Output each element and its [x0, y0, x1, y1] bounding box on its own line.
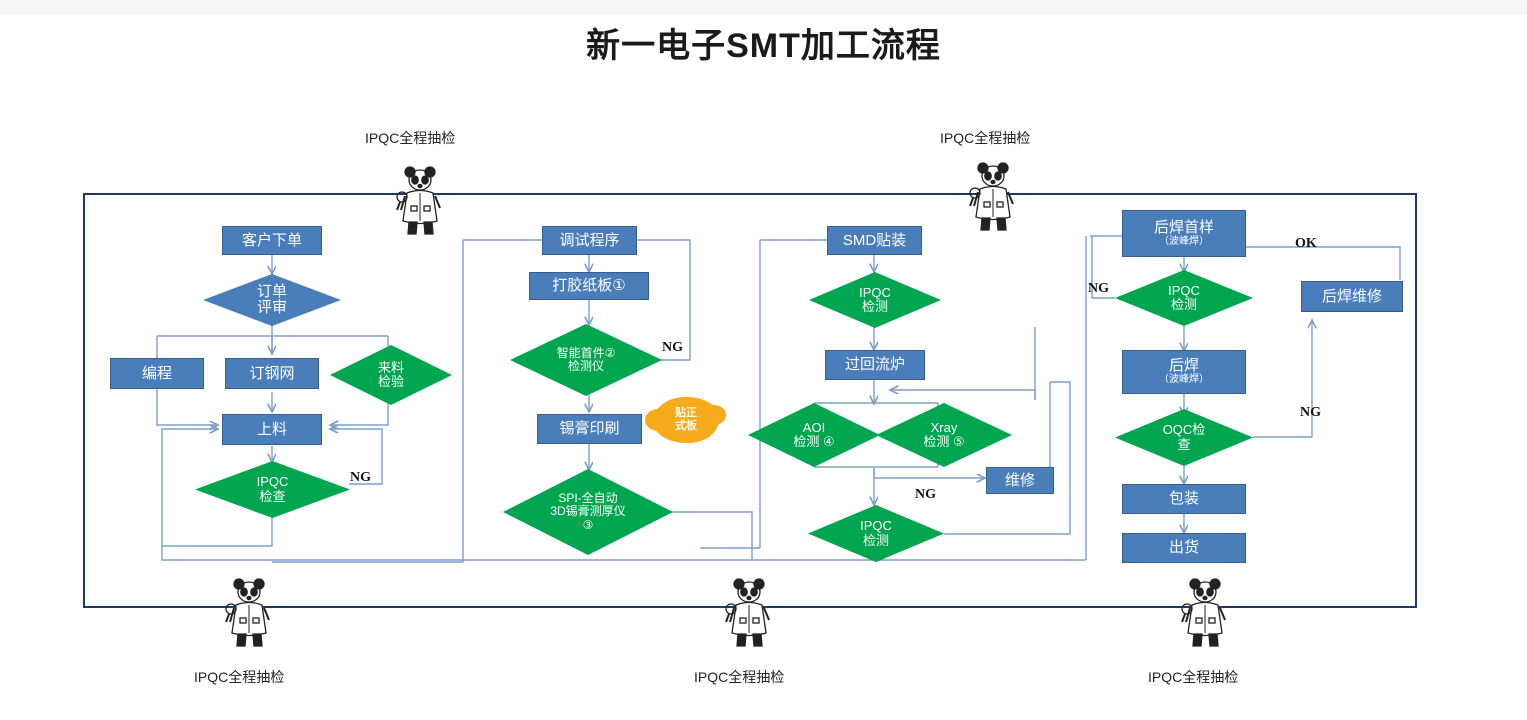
node-glue-paper-board[interactable]: 打胶纸板①: [529, 272, 649, 300]
node-ipqc-inspect-c3a[interactable]: IPQC 检测: [809, 272, 941, 328]
node-label-line1: 来料: [378, 361, 404, 375]
node-label: 后焊首样: [1154, 220, 1214, 236]
node-sublabel: （波峰焊）: [1159, 237, 1209, 248]
node-xray-inspection[interactable]: Xray 检测 ⑤: [876, 403, 1012, 467]
node-label-line2: 检测 ④: [793, 435, 834, 449]
node-label: 编程: [142, 366, 172, 382]
node-oqc-check[interactable]: OQC检 查: [1115, 409, 1253, 466]
edge-label-ng-c3: NG: [915, 487, 936, 503]
panda-inspector-icon: [1178, 578, 1232, 654]
node-label-line1: OQC检: [1163, 423, 1206, 437]
panda-inspector-icon: [222, 578, 276, 654]
node-order-review[interactable]: 订单 评审: [203, 274, 341, 326]
node-label-line2: 查: [1163, 438, 1206, 452]
node-post-solder-repair[interactable]: 后焊维修: [1301, 281, 1403, 312]
note-line1: 贴正: [675, 407, 697, 420]
edge-label-ng-c1: NG: [350, 470, 371, 486]
node-shipment[interactable]: 出货: [1122, 533, 1246, 563]
node-label: 上料: [257, 422, 287, 438]
edge-label-ng-c2: NG: [662, 340, 683, 356]
node-label-line2: 检测 ⑤: [923, 435, 964, 449]
node-label-line2: 3D锡膏测厚仪: [550, 505, 625, 518]
mascot-label-top-left: IPQC全程抽检: [365, 128, 455, 148]
node-label-line1: 订单: [257, 284, 287, 301]
node-solder-paste-printing[interactable]: 锡膏印刷: [537, 414, 642, 444]
node-label-line2: 检测: [1168, 298, 1200, 312]
node-label: 订钢网: [249, 366, 294, 382]
node-packaging[interactable]: 包装: [1122, 484, 1246, 514]
node-label-line2: 检测: [860, 534, 892, 548]
note-paste-formal-board: 贴正 式板: [653, 397, 719, 443]
node-ipqc-check-c1[interactable]: IPQC 检查: [195, 461, 350, 518]
node-order-stencil[interactable]: 订钢网: [225, 358, 319, 389]
node-ipqc-inspect-c3b[interactable]: IPQC 检测: [808, 505, 944, 562]
node-label: 后焊维修: [1322, 289, 1382, 305]
node-post-solder-wave[interactable]: 后焊 （波峰焊）: [1122, 350, 1246, 394]
node-label-line2: 检查: [257, 490, 289, 504]
node-label-line1: Xray: [923, 421, 964, 435]
node-label: 包装: [1169, 491, 1199, 507]
node-label-line3: ③: [550, 519, 625, 532]
node-label: 打胶纸板①: [552, 278, 625, 294]
node-label: 客户下单: [242, 233, 302, 249]
node-label-line1: IPQC: [859, 286, 891, 300]
mascot-label-bottom-right: IPQC全程抽检: [1148, 667, 1238, 687]
node-customer-order[interactable]: 客户下单: [222, 226, 322, 255]
node-label-line2: 检测: [859, 300, 891, 314]
mascot-label-top-right: IPQC全程抽检: [940, 128, 1030, 148]
node-smart-first-article[interactable]: 智能首件② 检测仪: [510, 324, 662, 396]
node-label-line2: 评审: [257, 300, 287, 317]
node-label-line1: IPQC: [860, 519, 892, 533]
node-label-line2: 检验: [378, 375, 404, 389]
note-line2: 式板: [675, 420, 697, 433]
node-spi-3d-thickness[interactable]: SPI-全自动 3D锡膏测厚仪 ③: [503, 469, 673, 555]
node-label-line1: IPQC: [257, 475, 289, 489]
mascot-label-bottom-left: IPQC全程抽检: [194, 667, 284, 687]
node-sublabel: （波峰焊）: [1159, 375, 1209, 386]
node-label: 后焊: [1169, 358, 1199, 374]
node-smd-placement[interactable]: SMD贴装: [827, 226, 922, 255]
node-programming[interactable]: 编程: [110, 358, 204, 389]
node-label: 维修: [1005, 473, 1035, 489]
node-reflow-oven[interactable]: 过回流炉: [825, 350, 925, 380]
node-repair-c3[interactable]: 维修: [986, 467, 1054, 494]
node-feeding[interactable]: 上料: [222, 414, 322, 445]
node-incoming-inspection[interactable]: 来料 检验: [330, 345, 452, 405]
flowchart-canvas: 客户下单 订单 评审 编程 订钢网 来料 检验 上料 IPQC 检查 NG 调试…: [0, 0, 1527, 720]
edge-label-ok-c4: OK: [1295, 236, 1317, 252]
node-label-line1: IPQC: [1168, 284, 1200, 298]
edge-label-ng-c4-left: NG: [1088, 281, 1109, 297]
node-label: 锡膏印刷: [559, 421, 619, 437]
node-label-line1: AOI: [793, 421, 834, 435]
edge-label-ng-c4-right: NG: [1300, 405, 1321, 421]
node-debug-program[interactable]: 调试程序: [542, 226, 637, 255]
node-ipqc-inspect-c4[interactable]: IPQC 检测: [1115, 270, 1253, 326]
panda-inspector-icon: [393, 166, 447, 242]
node-label-line2: 检测仪: [557, 360, 616, 373]
node-label: 出货: [1169, 540, 1199, 556]
node-aoi-inspection[interactable]: AOI 检测 ④: [748, 403, 880, 467]
node-post-solder-first-article[interactable]: 后焊首样 （波峰焊）: [1122, 210, 1246, 257]
mascot-label-bottom-mid: IPQC全程抽检: [694, 667, 784, 687]
node-label: 过回流炉: [845, 357, 905, 373]
node-label: SMD贴装: [843, 233, 906, 249]
panda-inspector-icon: [966, 162, 1020, 238]
node-label: 调试程序: [559, 233, 619, 249]
panda-inspector-icon: [722, 578, 776, 654]
